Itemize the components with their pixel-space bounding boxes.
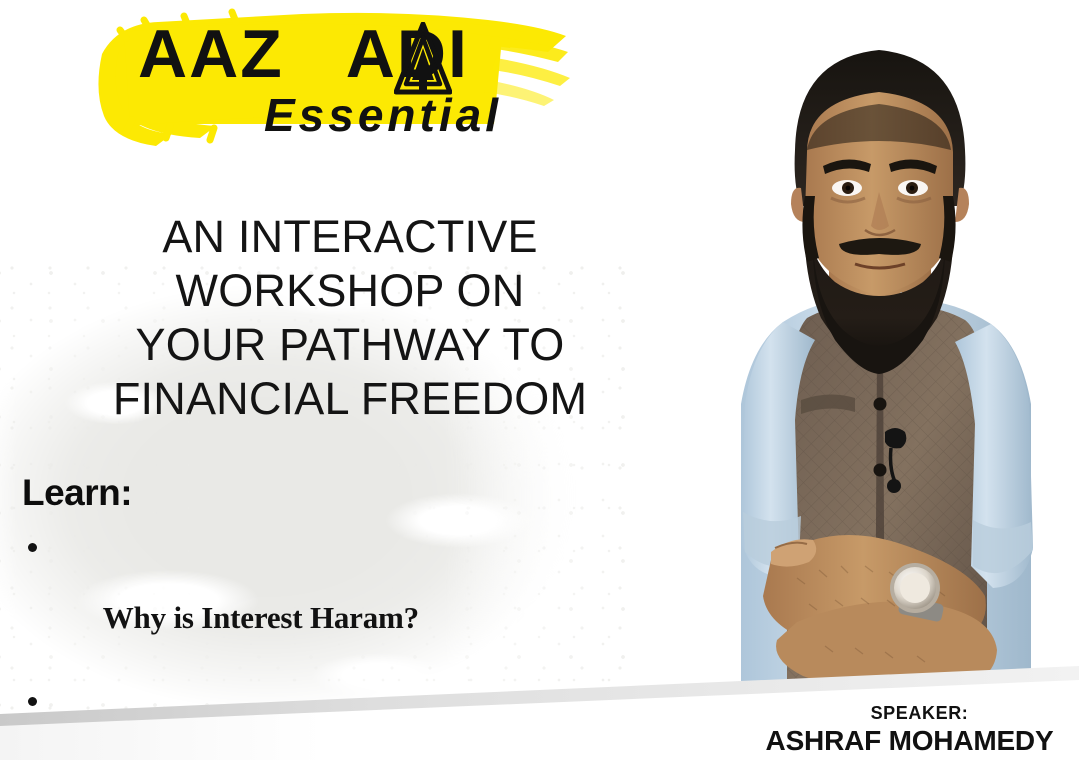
poster-root: AAZADI Essential AN INTERACTIVE WORKSHOP…: [0, 0, 1079, 760]
learn-heading: Learn:: [22, 474, 132, 511]
headline-line-2: WORKSHOP ON: [40, 264, 660, 318]
speaker-name: ASHRAF MOHAMEDY: [740, 727, 1079, 755]
headline-line-4: FINANCIAL FREEDOM: [40, 372, 660, 426]
headline: AN INTERACTIVE WORKSHOP ON YOUR PATHWAY …: [40, 210, 660, 426]
speaker-photo: [679, 0, 1079, 725]
logo-wordmark-left: AAZ: [138, 16, 284, 92]
brand-logo: AAZADI Essential: [96, 8, 616, 150]
headline-line-1: AN INTERACTIVE: [40, 210, 660, 264]
list-item-label: Why is Interest Haram?: [103, 600, 419, 635]
triangle-arrow-a-logo-icon: [394, 22, 452, 96]
headline-line-3: YOUR PATHWAY TO: [40, 318, 660, 372]
speaker-label: SPEAKER:: [760, 704, 1079, 722]
logo-subtitle: Essential: [264, 92, 502, 138]
bullet-dot-icon: [28, 543, 37, 552]
